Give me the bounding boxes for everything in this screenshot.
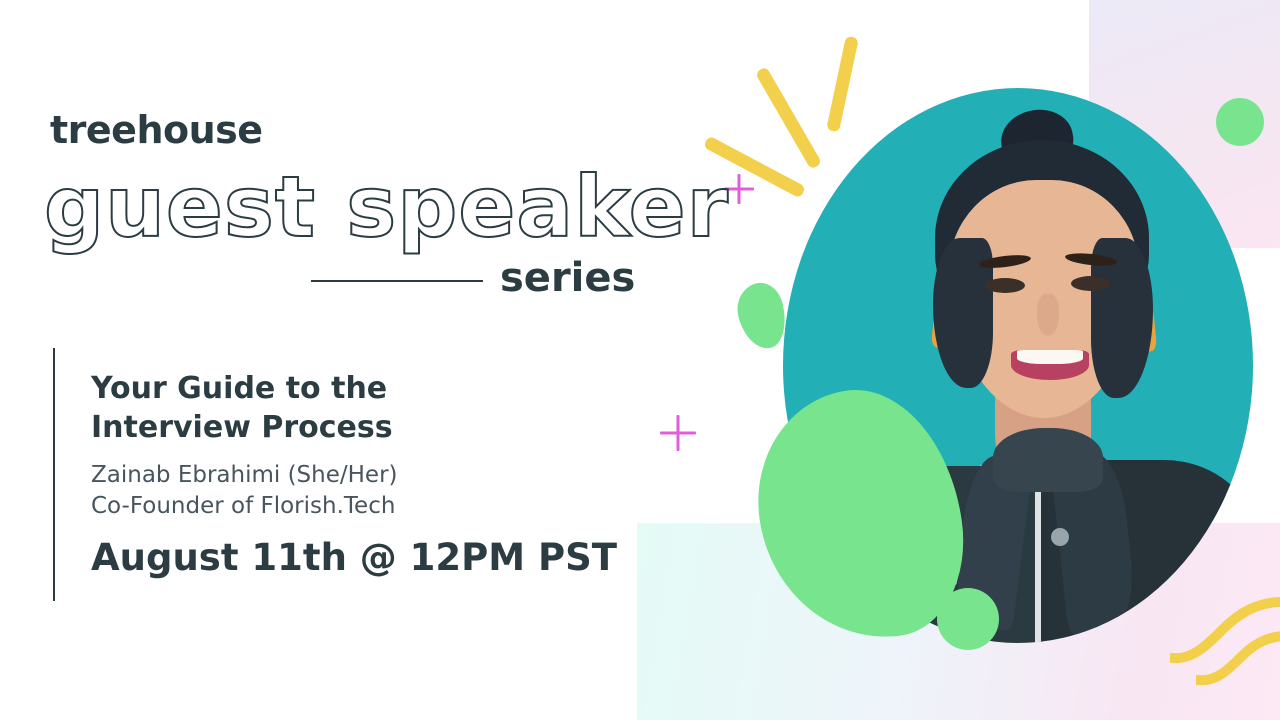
wave-stroke-2-icon xyxy=(1196,628,1280,688)
speaker-info: Zainab Ebrahimi (She/Her) Co-Founder of … xyxy=(91,460,398,522)
series-rule xyxy=(311,280,483,282)
plus-mark-2-icon xyxy=(660,415,696,451)
blob-topright-round xyxy=(1216,98,1264,146)
talk-title-line-2: Interview Process xyxy=(91,408,521,447)
blob-bottom-round xyxy=(937,588,999,650)
talk-title: Your Guide to the Interview Process xyxy=(91,369,521,447)
talk-title-line-1: Your Guide to the xyxy=(91,369,521,408)
brand-name: treehouse xyxy=(50,108,263,152)
series-label: series xyxy=(500,255,635,301)
speaker-role: Co-Founder of Florish.Tech xyxy=(91,491,398,522)
promo-slide: treehouse guest speaker series Your Guid… xyxy=(0,0,1280,720)
speaker-name: Zainab Ebrahimi (She/Her) xyxy=(91,460,398,491)
ray-stroke-2-icon xyxy=(755,66,822,169)
headline-outline: guest speaker xyxy=(44,158,729,256)
event-datetime: August 11th @ 12PM PST xyxy=(91,536,617,579)
ray-stroke-1-icon xyxy=(826,36,859,133)
vertical-divider xyxy=(53,348,55,601)
